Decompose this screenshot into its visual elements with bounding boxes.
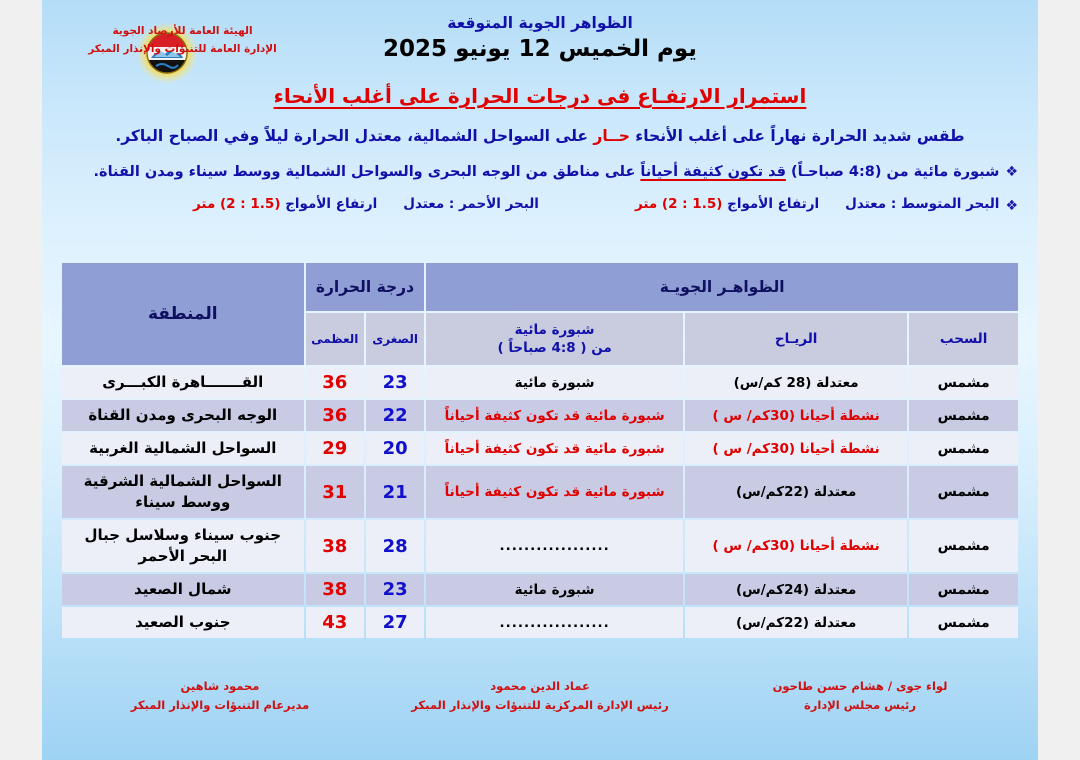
document-subtitle: الظواهر الجوية المتوقعة [42, 14, 1038, 32]
red-sea-label: البحر الأحمر : معتدل [403, 196, 539, 212]
fog-bullet-row: ❖ شبورة مائية من (4:8 صباحـاً) قد تكون ك… [56, 162, 1024, 183]
signature-chairman-role: رئيس مجلس الإدارة [700, 696, 1020, 716]
cell-wind: نشطة أحيانا (30كم/ س ) [685, 400, 907, 431]
diamond-bullet-icon: ❖ [1005, 163, 1018, 181]
forecast-table-wrapper: الظواهـر الجويـة درجة الحرارة المنطقة ال… [60, 261, 1020, 640]
cell-temp-max: 31 [306, 466, 364, 518]
title-block: الظواهر الجوية المتوقعة يوم الخميس 12 يو… [42, 14, 1038, 62]
fog-post-text: على مناطق من الوجه البحرى والسواحل الشما… [94, 164, 641, 180]
cell-phenomenon: شبورة مائية قد تكون كثيفة أحياناً [426, 400, 683, 431]
cell-phenomenon: .................. [426, 607, 683, 638]
cell-region: القـــــــاهرة الكبـــرى [62, 367, 304, 398]
header-column-tmin: الصغرى [366, 313, 424, 365]
cell-wind: نشطة أحيانا (30كم/ س ) [685, 433, 907, 464]
cell-temp-max: 38 [306, 520, 364, 572]
mediterranean-label: البحر المتوسط : معتدل [845, 196, 999, 212]
cell-wind: معتدلة (22كم/س) [685, 607, 907, 638]
cell-temp-max: 29 [306, 433, 364, 464]
table-header-group-row: الظواهـر الجويـة درجة الحرارة المنطقة [62, 263, 1018, 311]
cell-clouds: مشمس [909, 400, 1018, 431]
headline-banner: استمرار الارتفـاع فى درجات الحرارة على أ… [42, 84, 1038, 108]
cell-temp-min: 28 [366, 520, 424, 572]
cell-clouds: مشمس [909, 466, 1018, 518]
cell-phenomenon: شبورة مائية قد تكون كثيفة أحياناً [426, 433, 683, 464]
summary-pre-text: طقس شديد الحرارة نهاراً على أغلب الأنحاء [630, 127, 965, 145]
cell-temp-min: 27 [366, 607, 424, 638]
signature-footer: لواء جوى / هشام حسن طاحون رئيس مجلس الإد… [60, 677, 1020, 716]
mediterranean-waves-label: ارتفاع الأمواج [727, 196, 819, 212]
cell-temp-max: 38 [306, 574, 364, 605]
cell-temp-min: 22 [366, 400, 424, 431]
document-page: الهيئة العامة للأرصاد الجوية الإدارة الع… [42, 0, 1038, 760]
signature-forecast-director-role: مديرعام التنبؤات والإنذار المبكر [60, 696, 380, 716]
signature-central-head-name: عماد الدين محمود [380, 677, 700, 697]
cell-wind: نشطة أحيانا (30كم/ س ) [685, 520, 907, 572]
cell-region: جنوب الصعيد [62, 607, 304, 638]
mediterranean-waves-value: (1.5 : 2) متر [635, 196, 722, 212]
header-column-wind: الريـاح [685, 313, 907, 365]
table-row: مشمسمعتدلة (22كم/س)..................274… [62, 607, 1018, 638]
table-row: مشمسمعتدلة (22كم/س)شبورة مائية قد تكون ك… [62, 466, 1018, 518]
cell-phenomenon: شبورة مائية قد تكون كثيفة أحياناً [426, 466, 683, 518]
header-column-fog: شبورة مائية من ( 4:8 صباحاً ) [426, 313, 683, 365]
cell-region: جنوب سيناء وسلاسل جبال البحر الأحمر [62, 520, 304, 572]
forecast-table: الظواهـر الجويـة درجة الحرارة المنطقة ال… [60, 261, 1020, 640]
fog-pre-text: شبورة مائية من (4:8 صباحـاً) [786, 164, 1000, 180]
cell-wind: معتدلة (24كم/س) [685, 574, 907, 605]
cell-region: شمال الصعيد [62, 574, 304, 605]
forecast-table-head: الظواهـر الجويـة درجة الحرارة المنطقة ال… [62, 263, 1018, 365]
diamond-bullet-icon-2: ❖ [1005, 197, 1018, 215]
red-sea-waves-label: ارتفاع الأمواج [285, 196, 377, 212]
header-column-clouds: السحب [909, 313, 1018, 365]
header-group-temperature: درجة الحرارة [306, 263, 425, 311]
summary-section: طقس شديد الحرارة نهاراً على أغلب الأنحاء… [56, 125, 1024, 215]
sea-bullet-row: ❖ البحر المتوسط : معتدلارتفاع الأمواج (1… [56, 196, 1024, 215]
forecast-table-body: مشمسمعتدلة (28 كم/س)شبورة مائية2336القــ… [62, 367, 1018, 638]
table-row: مشمسمعتدلة (28 كم/س)شبورة مائية2336القــ… [62, 367, 1018, 398]
cell-phenomenon: شبورة مائية [426, 574, 683, 605]
document-date-title: يوم الخميس 12 يونيو 2025 [42, 36, 1038, 62]
signature-chairman-name: لواء جوى / هشام حسن طاحون [700, 677, 1020, 697]
cell-wind: معتدلة (22كم/س) [685, 466, 907, 518]
signature-chairman: لواء جوى / هشام حسن طاحون رئيس مجلس الإد… [700, 677, 1020, 716]
cell-wind: معتدلة (28 كم/س) [685, 367, 907, 398]
signature-forecast-director-name: محمود شاهين [60, 677, 380, 697]
signature-forecast-director: محمود شاهين مديرعام التنبؤات والإنذار ال… [60, 677, 380, 716]
table-row: مشمسمعتدلة (24كم/س)شبورة مائية2338شمال ا… [62, 574, 1018, 605]
signature-central-head-role: رئيس الإدارة المركزية للتنبؤات والإنذار … [380, 696, 700, 716]
signature-central-head: عماد الدين محمود رئيس الإدارة المركزية ل… [380, 677, 700, 716]
cell-clouds: مشمس [909, 367, 1018, 398]
cell-temp-min: 23 [366, 367, 424, 398]
cell-clouds: مشمس [909, 607, 1018, 638]
red-sea-waves-value: (1.5 : 2) متر [193, 196, 280, 212]
table-row: مشمسنشطة أحيانا (30كم/ س )شبورة مائية قد… [62, 433, 1018, 464]
cell-clouds: مشمس [909, 433, 1018, 464]
header-column-tmax: العظمى [306, 313, 364, 365]
summary-post-text: على السواحل الشمالية، معتدل الحرارة ليلا… [115, 127, 593, 145]
summary-hot-word: حــار [593, 127, 630, 145]
cell-clouds: مشمس [909, 520, 1018, 572]
document-header: الهيئة العامة للأرصاد الجوية الإدارة الع… [42, 0, 1038, 92]
cell-temp-min: 20 [366, 433, 424, 464]
header-group-phenomena: الظواهـر الجويـة [426, 263, 1018, 311]
cell-clouds: مشمس [909, 574, 1018, 605]
table-row: مشمسنشطة أحيانا (30كم/ س )..............… [62, 520, 1018, 572]
cell-region: السواحل الشمالية الغربية [62, 433, 304, 464]
cell-temp-max: 43 [306, 607, 364, 638]
fog-emphasis-text: قد تكون كثيفة أحياناً [640, 164, 786, 180]
sea-conditions-line: البحر المتوسط : معتدلارتفاع الأمواج (1.5… [56, 196, 999, 212]
main-summary-paragraph: طقس شديد الحرارة نهاراً على أغلب الأنحاء… [56, 125, 1024, 148]
cell-phenomenon: شبورة مائية [426, 367, 683, 398]
cell-region: السواحل الشمالية الشرقية ووسط سيناء [62, 466, 304, 518]
cell-temp-min: 23 [366, 574, 424, 605]
table-row: مشمسنشطة أحيانا (30كم/ س )شبورة مائية قد… [62, 400, 1018, 431]
cell-region: الوجه البحرى ومدن القناة [62, 400, 304, 431]
cell-phenomenon: .................. [426, 520, 683, 572]
cell-temp-min: 21 [366, 466, 424, 518]
cell-temp-max: 36 [306, 400, 364, 431]
header-column-region: المنطقة [62, 263, 304, 365]
header-fog-line-2: من ( 4:8 صباحاً ) [497, 340, 611, 356]
fog-bullet-text: شبورة مائية من (4:8 صباحـاً) قد تكون كثي… [56, 162, 999, 183]
header-fog-line-1: شبورة مائية [515, 322, 595, 338]
cell-temp-max: 36 [306, 367, 364, 398]
